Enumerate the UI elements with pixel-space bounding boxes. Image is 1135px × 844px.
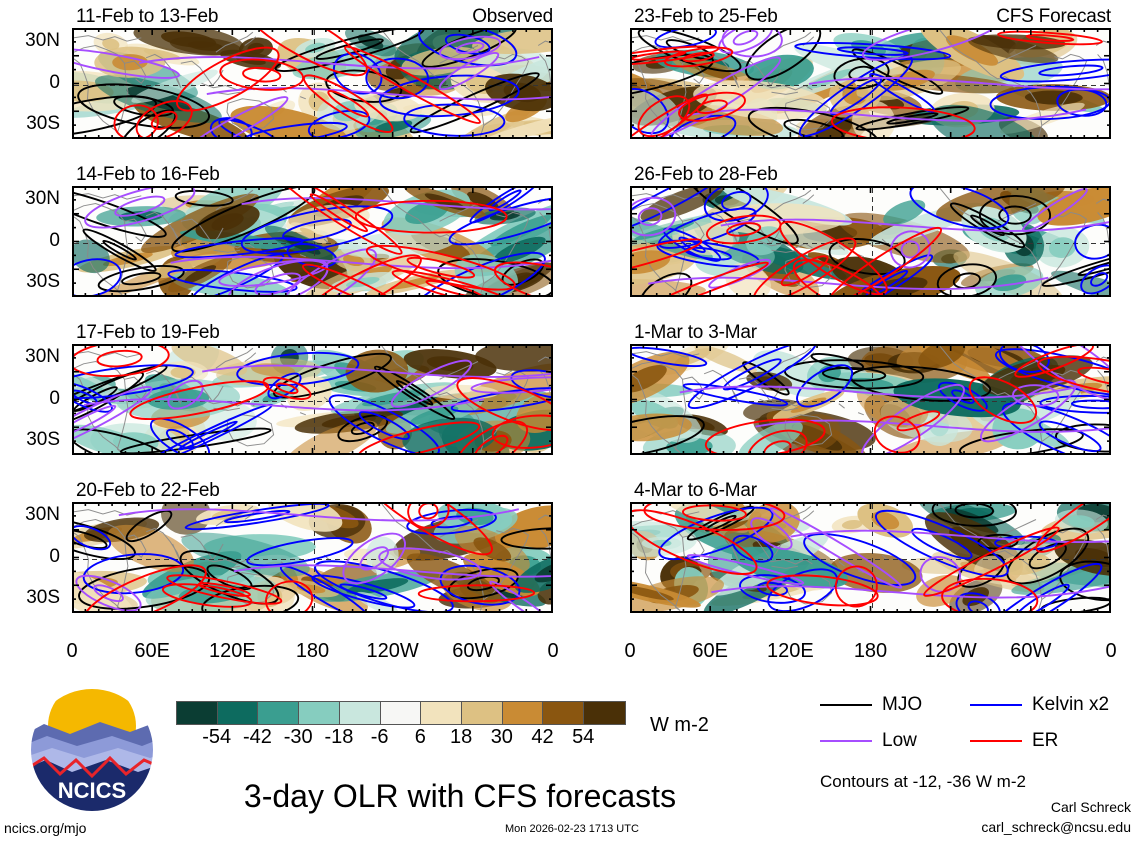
site-url: ncics.org/mjo xyxy=(4,820,86,836)
x-tick-left-3: 180 xyxy=(296,640,329,663)
colorbar-tick-4: -6 xyxy=(371,726,389,749)
panel-title-cfs-26-28-feb: 26-Feb to 28-Feb xyxy=(634,164,778,186)
legend-item-er: ER xyxy=(970,730,1120,752)
map-cfs-23-25-feb xyxy=(630,28,1111,139)
panel-title-obs-14-16-feb: 14-Feb to 16-Feb xyxy=(76,164,220,186)
x-tick-left-4: 120W xyxy=(367,640,419,663)
y-tick-obs-20-22-feb-1: 0 xyxy=(0,546,60,568)
colorbar-segment-5 xyxy=(381,702,422,724)
panel-title-obs-17-19-feb: 17-Feb to 19-Feb xyxy=(76,322,220,344)
legend-label: Low xyxy=(882,730,917,752)
map-obs-17-19-feb xyxy=(72,344,553,455)
map-cfs-4-6-mar xyxy=(630,502,1111,613)
colorbar-segment-6 xyxy=(421,702,462,724)
x-axis-right: 060E120E180120W60W0 xyxy=(630,640,1111,666)
colorbar-units-label: W m-2 xyxy=(650,714,709,737)
legend-line-icon xyxy=(820,740,872,742)
x-tick-right-3: 180 xyxy=(854,640,887,663)
panel-title-obs-20-22-feb: 20-Feb to 22-Feb xyxy=(76,480,220,502)
legend-line-icon xyxy=(820,704,872,706)
colorbar-tick-6: 18 xyxy=(450,726,472,749)
y-tick-obs-17-19-feb-1: 0 xyxy=(0,388,60,410)
map-obs-14-16-feb xyxy=(72,186,553,297)
column-header-right: CFS Forecast xyxy=(630,6,1111,28)
timestamp: Mon 2026-02-23 1713 UTC xyxy=(505,823,639,835)
x-tick-left-6: 0 xyxy=(547,640,558,663)
y-tick-obs-20-22-feb-0: 30N xyxy=(0,504,60,526)
x-tick-right-0: 0 xyxy=(624,640,635,663)
ncics-logo-text: NCICS xyxy=(58,778,126,803)
x-tick-right-2: 120E xyxy=(767,640,814,663)
colorbar-segment-8 xyxy=(503,702,544,724)
map-cfs-1-3-mar xyxy=(630,344,1111,455)
colorbar-segment-7 xyxy=(462,702,503,724)
map-obs-11-13-feb xyxy=(72,28,553,139)
legend-item-mjo: MJO xyxy=(820,694,970,716)
x-tick-right-6: 0 xyxy=(1105,640,1116,663)
colorbar-tick-2: -30 xyxy=(284,726,313,749)
x-tick-left-0: 0 xyxy=(66,640,77,663)
legend-line-icon xyxy=(970,704,1022,706)
y-tick-obs-14-16-feb-0: 30N xyxy=(0,188,60,210)
colorbar-tick-8: 42 xyxy=(531,726,553,749)
colorbar xyxy=(176,701,626,725)
colorbar-tick-9: 54 xyxy=(572,726,594,749)
colorbar-tick-3: -18 xyxy=(324,726,353,749)
x-tick-left-1: 60E xyxy=(134,640,170,663)
x-tick-right-1: 60E xyxy=(692,640,728,663)
panel-title-cfs-1-3-mar: 1-Mar to 3-Mar xyxy=(634,322,757,344)
x-tick-left-2: 120E xyxy=(209,640,256,663)
credit-name: Carl Schreck xyxy=(1051,799,1131,815)
column-header-left: Observed xyxy=(72,6,553,28)
y-tick-obs-14-16-feb-1: 0 xyxy=(0,230,60,252)
colorbar-tick-7: 30 xyxy=(491,726,513,749)
legend-item-kelvin-x2: Kelvin x2 xyxy=(970,694,1120,716)
y-tick-obs-20-22-feb-2: 30S xyxy=(0,587,60,609)
ncics-logo-graphic: NCICS xyxy=(22,686,162,814)
colorbar-segment-0 xyxy=(177,702,218,724)
legend-item-low: Low xyxy=(820,730,970,752)
colorbar-segment-3 xyxy=(299,702,340,724)
map-cfs-26-28-feb xyxy=(630,186,1111,297)
y-tick-obs-17-19-feb-0: 30N xyxy=(0,346,60,368)
y-tick-obs-14-16-feb-2: 30S xyxy=(0,271,60,293)
colorbar-ticks: -54-42-30-18-6618304254 xyxy=(176,726,624,752)
x-tick-right-4: 120W xyxy=(925,640,977,663)
legend-label: Kelvin x2 xyxy=(1032,694,1109,716)
legend-line-icon xyxy=(970,740,1022,742)
x-axis-left: 060E120E180120W60W0 xyxy=(72,640,553,666)
contour-note: Contours at -12, -36 W m-2 xyxy=(820,772,1026,792)
colorbar-segment-4 xyxy=(340,702,381,724)
main-title: 3-day OLR with CFS forecasts xyxy=(180,778,740,815)
legend-label: MJO xyxy=(882,694,922,716)
y-tick-obs-11-13-feb-1: 0 xyxy=(0,72,60,94)
panel-title-cfs-4-6-mar: 4-Mar to 6-Mar xyxy=(634,480,757,502)
colorbar-tick-1: -42 xyxy=(243,726,272,749)
x-tick-left-5: 60W xyxy=(452,640,493,663)
x-tick-right-5: 60W xyxy=(1010,640,1051,663)
contour-legend: MJOKelvin x2LowER xyxy=(820,694,1120,752)
colorbar-tick-0: -54 xyxy=(202,726,231,749)
y-tick-obs-11-13-feb-0: 30N xyxy=(0,30,60,52)
colorbar-tick-5: 6 xyxy=(415,726,426,749)
colorbar-segment-10 xyxy=(584,702,625,724)
y-tick-obs-17-19-feb-2: 30S xyxy=(0,429,60,451)
colorbar-segment-1 xyxy=(218,702,259,724)
map-obs-20-22-feb xyxy=(72,502,553,613)
ncics-logo: NCICS xyxy=(22,686,162,814)
legend-label: ER xyxy=(1032,730,1058,752)
credit-email: carl_schreck@ncsu.edu xyxy=(981,819,1131,835)
colorbar-segment-2 xyxy=(258,702,299,724)
colorbar-segment-9 xyxy=(543,702,584,724)
y-tick-obs-11-13-feb-2: 30S xyxy=(0,113,60,135)
